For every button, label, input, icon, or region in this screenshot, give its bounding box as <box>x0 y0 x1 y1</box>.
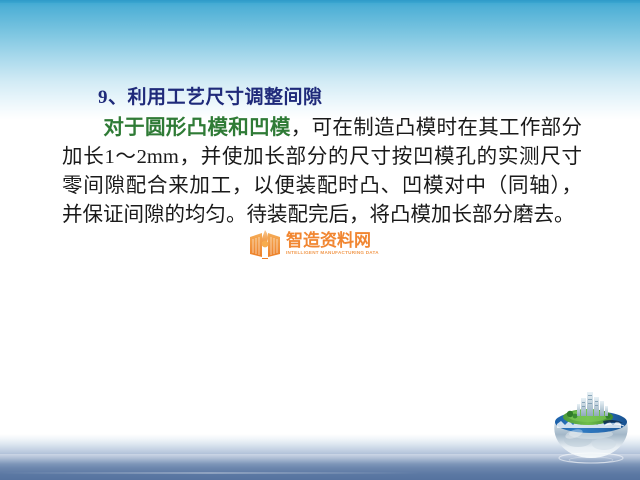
slide-canvas: 9、利用工艺尺寸调整间隙 对于圆形凸模和凹模，可在制造凸模时在其工作部分加长1～… <box>0 0 640 480</box>
highlighted-term: 对于圆形凸模和凹模 <box>103 117 291 139</box>
body-paragraph: 对于圆形凸模和凹模，可在制造凸模时在其工作部分加长1～2mm，并使加长部分的尺寸… <box>62 114 582 230</box>
page-title: 9、利用工艺尺寸调整间隙 <box>98 82 323 109</box>
slide-content: 9、利用工艺尺寸调整间隙 对于圆形凸模和凹模，可在制造凸模时在其工作部分加长1～… <box>0 0 640 480</box>
earth-city-globe-graphic <box>548 388 634 466</box>
